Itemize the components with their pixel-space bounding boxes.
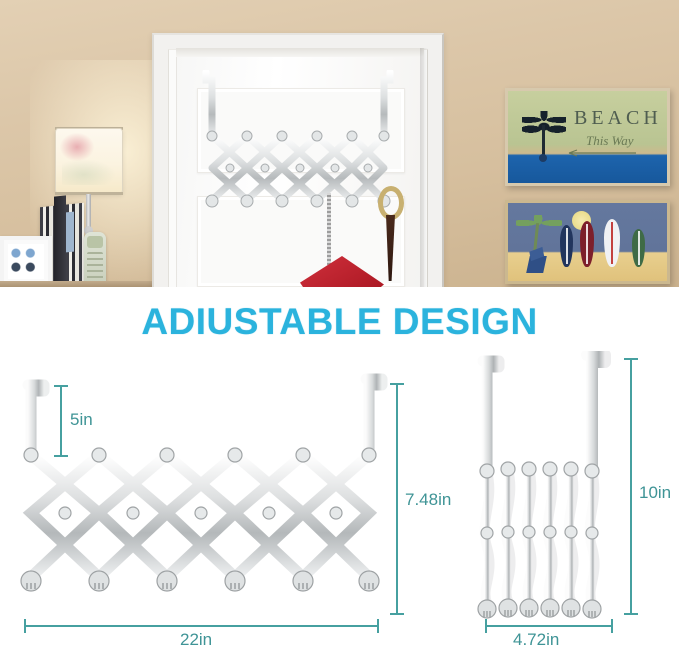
beach-sign-subtitle: This Way: [586, 133, 634, 149]
dim-748in-line: [396, 383, 398, 615]
dim-5in-cap-bottom: [54, 455, 68, 457]
palm-coconut: [539, 154, 547, 162]
beach-sign-wall-art: BEACH This Way: [505, 88, 670, 186]
handbag-chain-strap: [327, 193, 331, 265]
dim-22in-line: [24, 625, 379, 627]
dim-22in-label: 22in: [180, 630, 212, 650]
dim-10in-cap-bottom: [624, 613, 638, 615]
lamp-shade: [55, 128, 123, 194]
surfboard-3: [604, 219, 620, 267]
dim-5in-label: 5in: [70, 410, 93, 430]
left-arrow-icon: [565, 149, 637, 157]
picture-frame: [0, 236, 52, 287]
installed-rack: [190, 70, 410, 220]
room-scene-photo: BEACH This Way: [0, 0, 679, 287]
product-infographic: BEACH This Way ADIUSTABLE DESIGN: [0, 0, 679, 667]
dim-472in-cap-right: [611, 619, 613, 633]
strap-gold-ring: [378, 186, 404, 220]
surfboard-wall-art: [505, 200, 670, 284]
expanded-rack-diagram: [4, 355, 404, 645]
phone-screen: [87, 236, 103, 248]
surfboard-1: [560, 225, 573, 267]
hook-balls: [21, 571, 379, 591]
dark-book: [54, 195, 66, 287]
surfboard-4: [632, 229, 645, 267]
dim-10in-line: [630, 358, 632, 615]
door-shadow: [420, 48, 428, 287]
spec-diagram-panel: ADIUSTABLE DESIGN: [0, 287, 679, 667]
thin-book: [66, 212, 74, 253]
dim-5in-line: [60, 385, 62, 457]
dim-472in-label: 4.72in: [513, 630, 559, 650]
surfboard-2: [580, 221, 594, 267]
installed-rack-lattice: [190, 70, 410, 220]
collapsed-rack-diagram: [455, 351, 630, 641]
door-top-edge: [176, 48, 424, 57]
beach-sign-title: BEACH: [574, 107, 662, 130]
dim-748in-cap-bottom: [390, 613, 404, 615]
beach-chair-icon: [526, 256, 547, 273]
dim-748in-label: 7.48in: [405, 490, 451, 510]
dim-472in-line: [485, 625, 613, 627]
page-title: ADIUSTABLE DESIGN: [0, 301, 679, 343]
dim-10in-label: 10in: [639, 483, 671, 503]
dim-22in-cap-right: [377, 619, 379, 633]
